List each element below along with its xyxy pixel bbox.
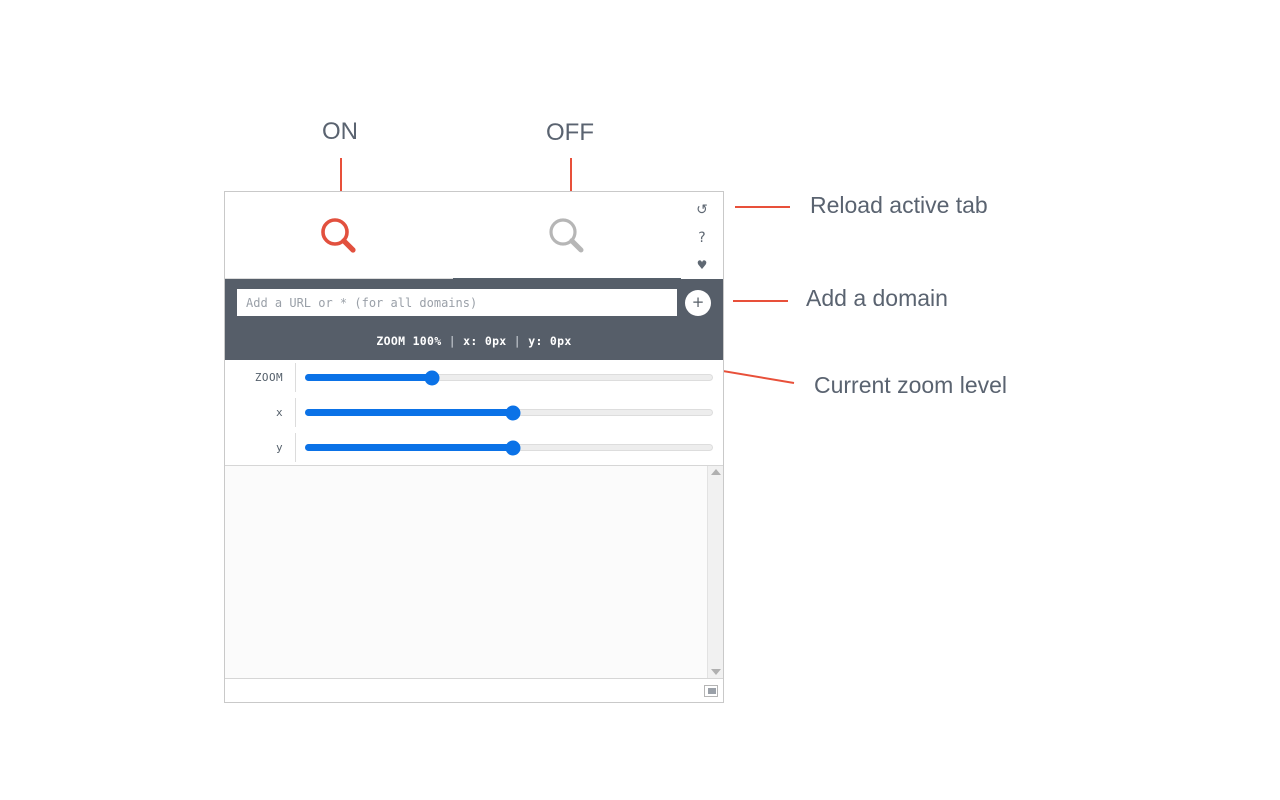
slider-label-zoom: ZOOM — [225, 371, 295, 384]
slider-zoom[interactable] — [296, 360, 723, 395]
zoom-controls: ZOOM x y — [225, 360, 723, 466]
annotation-label-reload: Reload active tab — [810, 192, 988, 219]
magnifier-icon — [316, 213, 362, 259]
annotation-label-on: ON — [322, 118, 358, 146]
slider-track-zoom[interactable] — [305, 374, 713, 381]
tab-underline-off — [453, 278, 681, 280]
reload-icon[interactable]: ↺ — [681, 196, 723, 224]
scroll-down-arrow-icon[interactable] — [711, 669, 721, 675]
tab-underline-on — [225, 278, 453, 279]
annotation-label-off: OFF — [546, 119, 594, 147]
zoom-status-value: 100% — [413, 334, 442, 348]
slider-row-x: x — [225, 395, 723, 430]
scroll-up-arrow-icon[interactable] — [711, 469, 721, 475]
slider-fill-zoom — [305, 374, 433, 381]
vertical-scrollbar[interactable] — [707, 466, 723, 678]
heart-icon[interactable]: ♥ — [681, 251, 723, 279]
tab-magnifier-on[interactable] — [225, 192, 453, 279]
slider-thumb-zoom[interactable] — [424, 370, 439, 385]
header-icon-column: ↺ ? ♥ — [681, 192, 723, 279]
annotation-leader-reload — [735, 206, 790, 208]
slider-label-x: x — [225, 406, 295, 419]
slider-label-y: y — [225, 441, 295, 454]
zoom-status-bar: ZOOM 100% | x: 0px | y: 0px — [237, 334, 711, 348]
slider-row-zoom: ZOOM — [225, 360, 723, 395]
url-row: Add a URL or * (for all domains) + — [237, 289, 711, 316]
annotation-label-zoom-level: Current zoom level — [814, 372, 1007, 399]
zoom-status-y: y: 0px — [528, 334, 571, 348]
help-icon[interactable]: ? — [681, 224, 723, 252]
slider-fill-y — [305, 444, 514, 451]
status-separator-1: | — [449, 334, 456, 348]
magnifier-icon — [544, 213, 590, 259]
annotation-leader-add-domain — [733, 300, 788, 302]
zoom-status-label: ZOOM — [376, 334, 405, 348]
slider-track-y[interactable] — [305, 444, 713, 451]
slider-row-y: y — [225, 430, 723, 465]
slider-track-x[interactable] — [305, 409, 713, 416]
slider-thumb-y[interactable] — [506, 440, 521, 455]
domain-entry-section: Add a URL or * (for all domains) + ZOOM … — [225, 279, 723, 360]
slider-y[interactable] — [296, 430, 723, 465]
popup-footer — [225, 679, 723, 702]
annotation-leader-off — [570, 158, 572, 192]
add-domain-button[interactable]: + — [685, 290, 711, 316]
tabs-row: ↺ ? ♥ — [225, 192, 723, 279]
annotation-label-add-domain: Add a domain — [806, 285, 948, 312]
slider-fill-x — [305, 409, 514, 416]
status-separator-2: | — [514, 334, 521, 348]
extension-popup: ↺ ? ♥ Add a URL or * (for all domains) +… — [224, 191, 724, 703]
slider-thumb-x[interactable] — [506, 405, 521, 420]
slider-x[interactable] — [296, 395, 723, 430]
annotation-leader-on — [340, 158, 342, 192]
resize-grip-icon[interactable] — [704, 685, 718, 697]
domain-list — [225, 466, 707, 678]
tab-magnifier-off[interactable] — [453, 192, 681, 279]
zoom-status-x: x: 0px — [463, 334, 506, 348]
url-input[interactable]: Add a URL or * (for all domains) — [237, 289, 677, 316]
domain-list-area — [225, 466, 723, 679]
